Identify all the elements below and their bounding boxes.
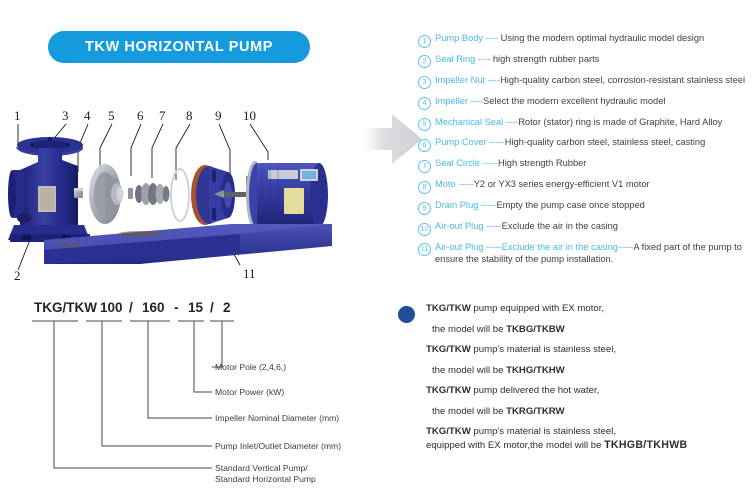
feature-text: Pump Cover -----High-quality carbon stee… bbox=[435, 137, 705, 149]
page-title-banner: TKW HORIZONTAL PUMP bbox=[48, 31, 310, 63]
feature-number-circle: 5 bbox=[418, 118, 431, 131]
feature-description: High strength Rubber bbox=[498, 158, 586, 168]
nomenclature-label-4: Standard Vertical Pump/ bbox=[215, 463, 308, 473]
note-text: pump's material is stainless steel, bbox=[471, 344, 616, 355]
note-model-code-emphasis: TKHGB/TKHWB bbox=[604, 439, 687, 451]
feature-number-circle: 11 bbox=[418, 243, 431, 256]
callout-10: 10 bbox=[243, 108, 256, 123]
nomenclature-label-3: Pump Inlet/Outlet Diameter (mm) bbox=[215, 441, 341, 451]
note-line: the model will be TKBG/TKBW bbox=[432, 324, 748, 335]
note-line: the model will be TKRG/TKRW bbox=[432, 406, 748, 417]
feature-part-name: Seal Circle ----- bbox=[435, 158, 498, 168]
feature-item: 11Air-out Plug -----Exclude the air in t… bbox=[418, 242, 756, 265]
feature-item: 3Impeller Nut ----High-quality carbon st… bbox=[418, 75, 756, 90]
feature-description: Rotor (stator) ring is made of Graphite,… bbox=[518, 117, 722, 127]
exploded-pump-diagram: 1 2 3 4 5 6 7 8 9 10 11 bbox=[0, 100, 400, 285]
feature-item: 4Impeller ----Select the modern excellen… bbox=[418, 96, 756, 111]
feature-item: 5Mechanical Seal ----Rotor (stator) ring… bbox=[418, 117, 756, 132]
note-line: equipped with EX motor,the model will be… bbox=[426, 439, 748, 451]
feature-item: 7Seal Circle -----High strength Rubber bbox=[418, 158, 756, 173]
note-text: the model will be bbox=[432, 406, 506, 417]
code-sep-3: / bbox=[210, 300, 214, 315]
feature-item: 1Pump Body ---- Using the modern optimal… bbox=[418, 33, 756, 48]
feature-text: Pump Body ---- Using the modern optimal … bbox=[435, 33, 704, 45]
base-plate-part bbox=[44, 224, 332, 264]
note-model-code: TKBG/TKBW bbox=[506, 324, 565, 335]
note-line: TKG/TKW pump's material is stainless ste… bbox=[426, 344, 748, 355]
feature-description: Y2 or YX3 series energy-efficient V1 mot… bbox=[474, 179, 650, 189]
mechanical-seal-part bbox=[128, 183, 170, 205]
flow-arrow bbox=[362, 108, 424, 170]
callout-8: 8 bbox=[186, 108, 193, 123]
note-model-code: TKRG/TKRW bbox=[506, 406, 564, 417]
callout-2: 2 bbox=[14, 268, 21, 283]
note-line: the model will be TKHG/TKHW bbox=[432, 365, 748, 376]
callout-1: 1 bbox=[14, 108, 21, 123]
callout-4: 4 bbox=[84, 108, 91, 123]
feature-text: Moto -----Y2 or YX3 series energy-effici… bbox=[435, 179, 650, 191]
feature-text: Drain Plug -----Empty the pump case once… bbox=[435, 200, 645, 212]
feature-part-name: Pump Body ---- bbox=[435, 33, 501, 43]
nomenclature-label-0: Motor Pole (2,4,6,) bbox=[215, 362, 286, 372]
feature-number-circle: 8 bbox=[418, 181, 431, 194]
note-text: equipped with EX motor,the model will be bbox=[426, 440, 604, 451]
feature-text: Seal Circle -----High strength Rubber bbox=[435, 158, 586, 170]
feature-description: high strength rubber parts bbox=[493, 54, 599, 64]
feature-part-name: Air-out Plug ----- bbox=[435, 242, 502, 252]
feature-number-circle: 3 bbox=[418, 76, 431, 89]
code-part-prefix: TKG/TKW bbox=[34, 300, 97, 315]
page-title: TKW HORIZONTAL PUMP bbox=[85, 39, 273, 55]
model-variant-notes: TKG/TKW pump equipped with EX motor,the … bbox=[398, 303, 748, 461]
feature-number-circle: 1 bbox=[418, 35, 431, 48]
note-model-prefix: TKG/TKW bbox=[426, 385, 471, 396]
feature-text: Impeller ----Select the modern excellent… bbox=[435, 96, 665, 108]
code-part-power: 15 bbox=[188, 300, 204, 315]
callout-5: 5 bbox=[108, 108, 115, 123]
feature-item: 10Air-out Plug -----Exclude the air in t… bbox=[418, 221, 756, 236]
code-part-impeller: 160 bbox=[142, 300, 165, 315]
feature-cyan-extra: Exclude the air in the casing----- bbox=[502, 242, 634, 252]
note-text: pump equipped with EX motor, bbox=[471, 303, 604, 314]
note-line: TKG/TKW pump delivered the hot water, bbox=[426, 385, 748, 396]
code-sep-1: / bbox=[129, 300, 133, 315]
note-model-prefix: TKG/TKW bbox=[426, 426, 471, 437]
note-line: TKG/TKW pump equipped with EX motor, bbox=[426, 303, 748, 314]
nomenclature-label-5: Standard Horizontal Pump bbox=[215, 474, 316, 484]
note-model-prefix: TKG/TKW bbox=[426, 303, 471, 314]
feature-text: Impeller Nut ----High-quality carbon ste… bbox=[435, 75, 745, 87]
feature-part-name: Mechanical Seal ---- bbox=[435, 117, 518, 127]
feature-item: 2Seal Ring ---- high strength rubber par… bbox=[418, 54, 756, 69]
impeller-nut-part bbox=[74, 188, 83, 198]
feature-description: High-quality carbon steel, corrosion-res… bbox=[500, 75, 745, 85]
notes-line-list: TKG/TKW pump equipped with EX motor,the … bbox=[426, 303, 748, 451]
note-text: the model will be bbox=[432, 365, 506, 376]
feature-part-name: Impeller Nut ---- bbox=[435, 75, 500, 85]
feature-item: 9Drain Plug -----Empty the pump case onc… bbox=[418, 200, 756, 215]
feature-description: Select the modern excellent hydraulic mo… bbox=[483, 96, 665, 106]
impeller-part bbox=[89, 164, 124, 224]
feature-description: Exclude the air in the casing bbox=[502, 221, 618, 231]
feature-part-name: Moto ----- bbox=[435, 179, 474, 189]
nomenclature-label-1: Motor Power (kW) bbox=[215, 387, 284, 397]
feature-number-circle: 7 bbox=[418, 160, 431, 173]
feature-part-name: Drain Plug ----- bbox=[435, 200, 496, 210]
feature-number-circle: 10 bbox=[418, 223, 431, 236]
callout-7: 7 bbox=[159, 108, 166, 123]
callout-6: 6 bbox=[137, 108, 144, 123]
note-text: the model will be bbox=[432, 324, 506, 335]
feature-part-name: Pump Cover ----- bbox=[435, 137, 505, 147]
feature-text: Air-out Plug -----Exclude the air in the… bbox=[435, 221, 618, 233]
feature-number-circle: 9 bbox=[418, 202, 431, 215]
feature-description: Using the modern optimal hydraulic model… bbox=[501, 33, 705, 43]
feature-part-name: Air-out Plug ----- bbox=[435, 221, 502, 231]
feature-text: Mechanical Seal ----Rotor (stator) ring … bbox=[435, 117, 722, 129]
note-line: TKG/TKW pump's material is stainless ste… bbox=[426, 426, 748, 437]
feature-description: Empty the pump case once stopped bbox=[496, 200, 644, 210]
feature-text: Seal Ring ---- high strength rubber part… bbox=[435, 54, 599, 66]
feature-text: Air-out Plug -----Exclude the air in the… bbox=[435, 242, 756, 265]
note-model-prefix: TKG/TKW bbox=[426, 344, 471, 355]
note-text: pump delivered the hot water, bbox=[471, 385, 600, 396]
feature-description: High-quality carbon steel, stainless ste… bbox=[505, 137, 706, 147]
callout-9: 9 bbox=[215, 108, 222, 123]
nomenclature-label-2: Impeller Nominal Diameter (mm) bbox=[215, 413, 339, 423]
code-part-inlet: 100 bbox=[100, 300, 123, 315]
feature-part-name: Seal Ring ---- bbox=[435, 54, 493, 64]
seal-circle-part bbox=[171, 169, 189, 221]
note-text: pump's material is stainless steel, bbox=[471, 426, 616, 437]
note-model-code: TKHG/TKHW bbox=[506, 365, 565, 376]
feature-list: 1Pump Body ---- Using the modern optimal… bbox=[418, 33, 756, 272]
feature-item: 8Moto -----Y2 or YX3 series energy-effic… bbox=[418, 179, 756, 194]
model-nomenclature-diagram: TKG/TKW 100 / 160 - 15 / 2 Motor Pole (2… bbox=[12, 296, 397, 496]
feature-number-circle: 6 bbox=[418, 139, 431, 152]
bullet-dot bbox=[398, 306, 415, 323]
feature-number-circle: 2 bbox=[418, 55, 431, 68]
feature-number-circle: 4 bbox=[418, 97, 431, 110]
feature-item: 6Pump Cover -----High-quality carbon ste… bbox=[418, 137, 756, 152]
code-part-pole: 2 bbox=[223, 300, 231, 315]
callout-11: 11 bbox=[243, 266, 256, 281]
callout-3: 3 bbox=[62, 108, 69, 123]
code-sep-2: - bbox=[174, 300, 179, 315]
feature-part-name: Impeller ---- bbox=[435, 96, 483, 106]
